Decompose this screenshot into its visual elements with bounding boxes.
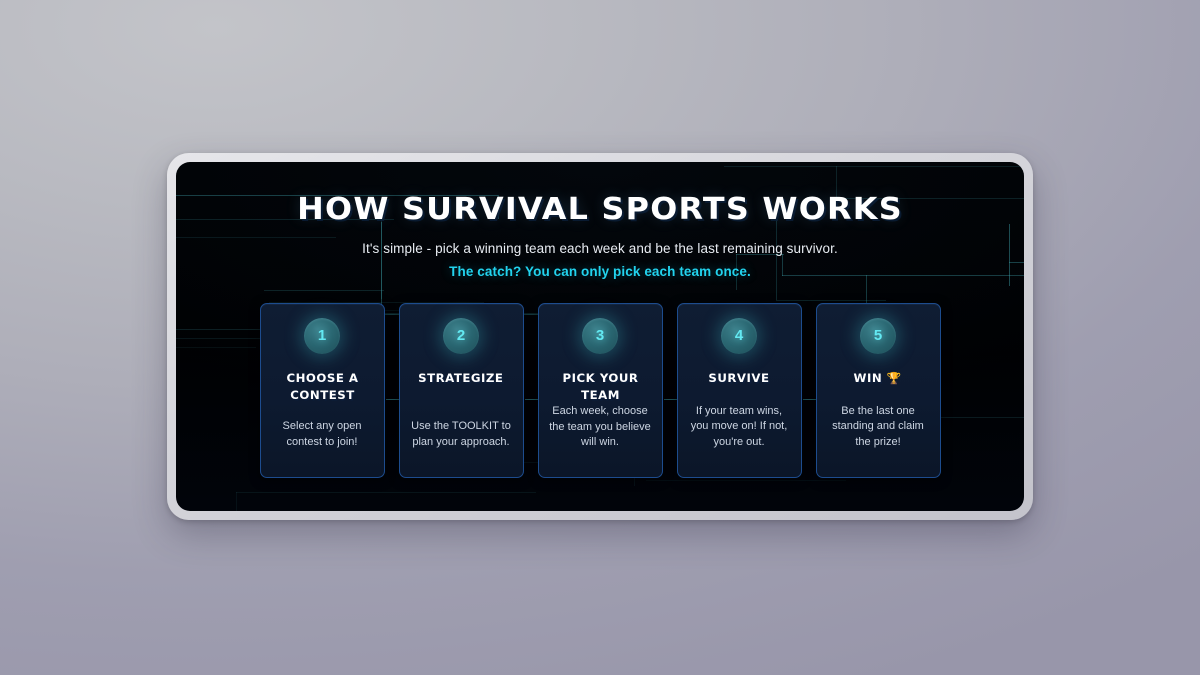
step-number: 5 <box>874 328 882 343</box>
step-number: 4 <box>735 328 743 343</box>
circuit-trace <box>646 480 846 481</box>
step-description: Select any open contest to join! <box>270 419 375 450</box>
step-title: WIN 🏆 <box>854 370 902 387</box>
step-number: 2 <box>457 328 465 343</box>
step-card-5[interactable]: 5 WIN 🏆 Be the last one standing and cla… <box>816 303 941 478</box>
step-card-2[interactable]: 2 STRATEGIZE Use the TOOLKIT to plan you… <box>399 303 524 478</box>
step-number: 1 <box>318 328 326 343</box>
step-badge-5: 5 <box>860 318 896 354</box>
circuit-trace <box>236 492 536 493</box>
steps-list: 1 CHOOSE A CONTEST Select any open conte… <box>176 303 1024 478</box>
catch-line-text: The catch? You can only pick each team o… <box>176 264 1024 279</box>
step-card-3[interactable]: 3 PICK YOUR TEAM Each week, choose the t… <box>538 303 663 478</box>
circuit-trace <box>264 290 384 291</box>
circuit-trace <box>236 492 237 511</box>
step-description: If your team wins, you move on! If not, … <box>687 404 792 451</box>
trophy-icon: 🏆 <box>887 371 902 385</box>
subtitle-text: It's simple - pick a winning team each w… <box>176 241 1024 256</box>
step-title-text: WIN <box>854 371 883 385</box>
step-card-1[interactable]: 1 CHOOSE A CONTEST Select any open conte… <box>260 303 385 478</box>
circuit-trace <box>776 300 886 301</box>
step-title: PICK YOUR TEAM <box>546 370 653 405</box>
step-description: Each week, choose the team you believe w… <box>548 404 653 451</box>
page-title: HOW SURVIVAL SPORTS WORKS <box>176 194 1024 226</box>
step-badge-4: 4 <box>721 318 757 354</box>
step-card-4[interactable]: 4 SURVIVE If your team wins, you move on… <box>677 303 802 478</box>
how-it-works-panel: HOW SURVIVAL SPORTS WORKS It's simple - … <box>176 162 1024 511</box>
step-badge-2: 2 <box>443 318 479 354</box>
step-description: Use the TOOLKIT to plan your approach. <box>409 419 514 450</box>
step-title: STRATEGIZE <box>418 370 503 387</box>
device-frame: HOW SURVIVAL SPORTS WORKS It's simple - … <box>167 153 1033 520</box>
step-badge-1: 1 <box>304 318 340 354</box>
step-title: CHOOSE A CONTEST <box>268 370 375 405</box>
step-badge-3: 3 <box>582 318 618 354</box>
step-title: SURVIVE <box>708 370 769 387</box>
step-number: 3 <box>596 328 604 343</box>
panel-header: HOW SURVIVAL SPORTS WORKS It's simple - … <box>176 162 1024 279</box>
step-description: Be the last one standing and claim the p… <box>826 404 931 451</box>
